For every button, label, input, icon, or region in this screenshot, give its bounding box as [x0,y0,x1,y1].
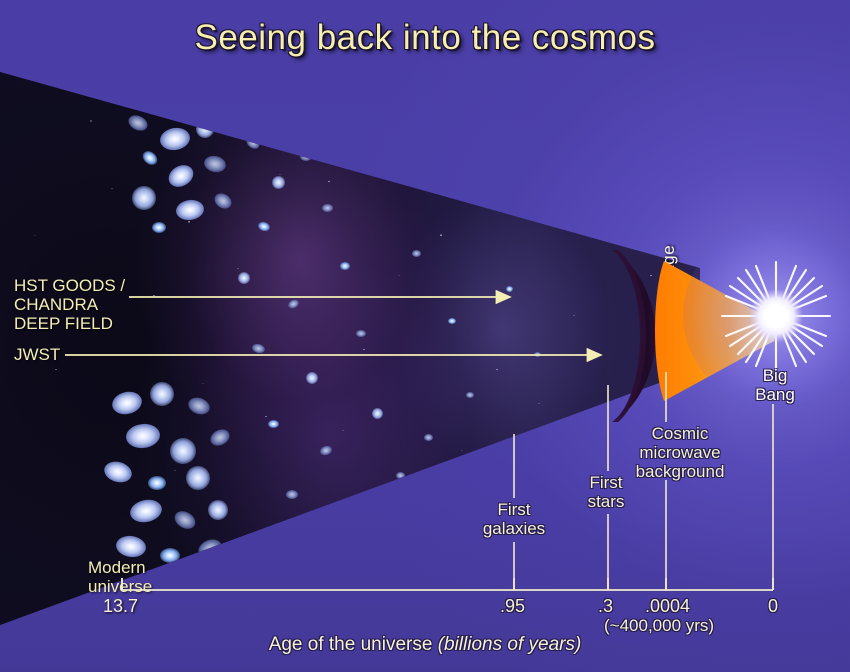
axis-caption-units: (billions of years) [438,634,582,655]
axis-label-13-7: 13.7 [103,596,138,617]
axis-caption-main: Age of the universe [269,634,438,655]
axis-label-0-95: .95 [500,596,525,617]
axis-caption: Age of the universe (billions of years) [0,634,850,656]
annotation-overlay [0,0,850,672]
leader-lines [122,372,773,590]
slide-canvas: Dark Age [0,0,850,672]
axis-label-0-0004: .0004 [645,596,690,617]
axis-label-0: 0 [768,596,778,617]
axis-label-0-3: .3 [598,596,613,617]
axis-note-400000-years: (~400,000 yrs) [604,616,714,636]
time-axis [122,578,773,590]
